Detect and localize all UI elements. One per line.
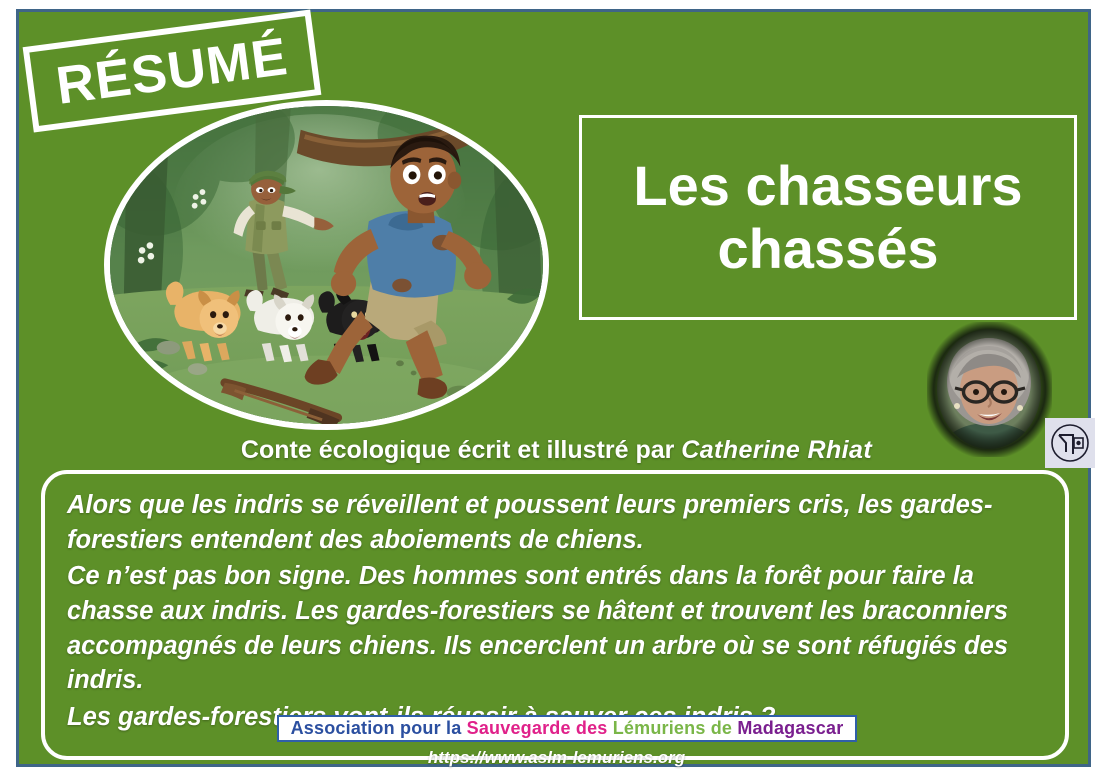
association-part-3: Lémuriens de bbox=[613, 718, 738, 738]
association-part-2: Sauvegarde des bbox=[467, 718, 613, 738]
poster-root: RÉSUMÉ Les chasseurs chassés bbox=[0, 0, 1107, 778]
resume-ribbon-label: RÉSUMÉ bbox=[53, 30, 291, 113]
summary-paragraph-1: Alors que les indris se réveillent et po… bbox=[67, 488, 1043, 557]
credit-line: Conte écologique écrit et illustré par C… bbox=[19, 436, 1094, 465]
association-part-1: Association pour la bbox=[291, 718, 467, 738]
credit-author-name: Catherine Rhiat bbox=[681, 436, 872, 464]
summary-paragraph-2: Ce n’est pas bon signe. Des hommes sont … bbox=[67, 559, 1043, 698]
story-illustration bbox=[104, 100, 549, 430]
association-part-4: Madagascar bbox=[737, 718, 843, 738]
association-banner[interactable]: Association pour la Sauvegarde des Lémur… bbox=[277, 715, 857, 742]
illustration-artwork bbox=[110, 106, 543, 424]
association-name: Association pour la Sauvegarde des Lémur… bbox=[291, 718, 844, 739]
credit-prefix: Conte écologique écrit et illustré par bbox=[241, 436, 681, 464]
green-panel: RÉSUMÉ Les chasseurs chassés bbox=[16, 9, 1091, 767]
summary-text: Alors que les indris se réveillent et po… bbox=[67, 488, 1043, 735]
title-line-1: Les chasseurs bbox=[633, 155, 1022, 218]
title-box: Les chasseurs chassés bbox=[579, 115, 1077, 320]
title-line-2: chassés bbox=[633, 218, 1022, 281]
page-title: Les chasseurs chassés bbox=[619, 155, 1036, 280]
website-url[interactable]: https://www.aslm-lemuriens.org bbox=[19, 748, 1094, 768]
